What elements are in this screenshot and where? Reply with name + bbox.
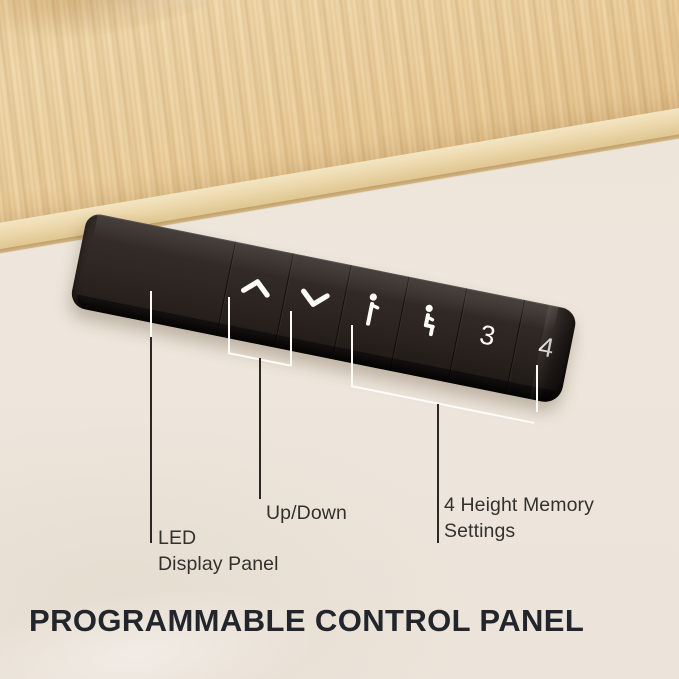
up-leader-stem bbox=[228, 297, 230, 353]
down-leader-stem bbox=[290, 311, 292, 366]
led-leader-line bbox=[150, 337, 152, 543]
wood-grain-knot bbox=[0, 0, 317, 68]
chevron-up-icon bbox=[239, 275, 273, 302]
memory-4-label: 4 bbox=[536, 333, 556, 362]
product-feature-image: 3 4 LED Display Panel Up/Down 4 Height M… bbox=[0, 0, 679, 679]
standing-person-icon bbox=[357, 291, 386, 333]
led-leader-on-panel bbox=[150, 291, 152, 337]
page-title: PROGRAMMABLE CONTROL PANEL bbox=[29, 603, 584, 639]
callout-updown: Up/Down bbox=[266, 500, 347, 526]
memory-leader-stem-left bbox=[351, 325, 353, 386]
memory-leader-stem-right bbox=[536, 365, 538, 412]
memory-leader-line bbox=[437, 404, 439, 543]
chevron-down-icon bbox=[297, 287, 331, 314]
callout-led: LED Display Panel bbox=[158, 525, 279, 577]
memory-3-label: 3 bbox=[477, 321, 497, 350]
updown-leader-line bbox=[259, 358, 261, 499]
sitting-person-icon bbox=[414, 303, 445, 345]
callout-memory: 4 Height Memory Settings bbox=[444, 492, 594, 544]
